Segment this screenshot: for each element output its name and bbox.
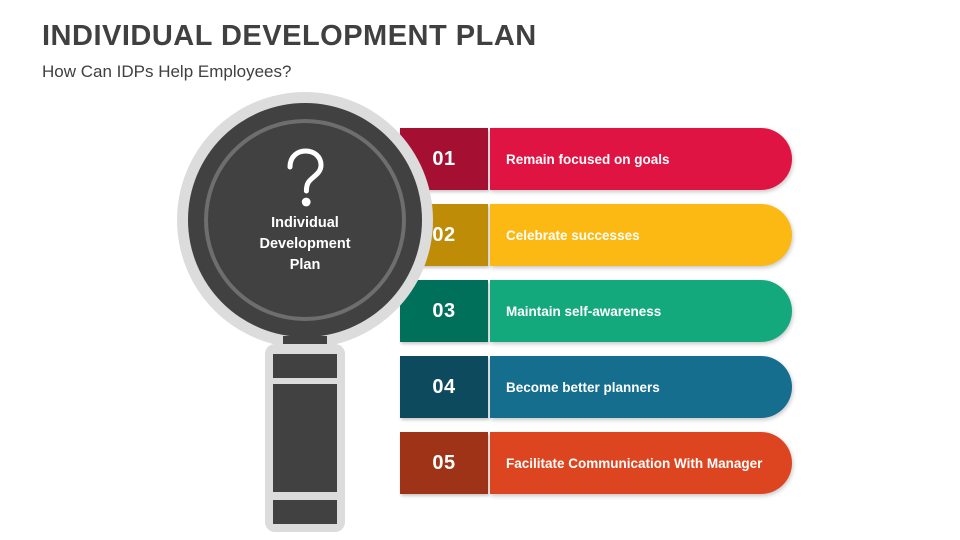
step-number-label: 03 <box>432 300 455 323</box>
step-number-label: 04 <box>432 376 455 399</box>
step-number-label: 02 <box>432 224 455 247</box>
step-row-04[interactable]: 04Become better planners <box>400 356 792 418</box>
step-label-bar-01[interactable]: Remain focused on goals <box>490 128 792 190</box>
slide-canvas: INDIVIDUAL DEVELOPMENT PLAN How Can IDPs… <box>0 0 960 540</box>
magnifier-text-line-3: Plan <box>259 255 350 276</box>
magnifier-text-line-1: Individual <box>259 213 350 234</box>
step-label-bar-04[interactable]: Become better planners <box>490 356 792 418</box>
step-label-bar-03[interactable]: Maintain self-awareness <box>490 280 792 342</box>
step-label-text: Remain focused on goals <box>490 152 670 167</box>
step-label-text: Become better planners <box>490 380 660 395</box>
step-label-bar-02[interactable]: Celebrate successes <box>490 204 792 266</box>
magnifier-handle-segment-bottom <box>273 500 337 524</box>
magnifier-text-line-2: Development <box>259 234 350 255</box>
step-row-01[interactable]: 01Remain focused on goals <box>400 128 792 190</box>
step-label-bar-05[interactable]: Facilitate Communication With Manager <box>490 432 792 494</box>
step-label-text: Maintain self-awareness <box>490 304 661 319</box>
step-row-02[interactable]: 02Celebrate successes <box>400 204 792 266</box>
step-label-text: Celebrate successes <box>490 228 640 243</box>
magnifier-lens-center: Individual Development Plan <box>210 125 400 315</box>
magnifier-graphic: Individual Development Plan <box>177 92 433 532</box>
magnifier-handle-segment-main <box>273 384 337 492</box>
steps-list: 01Remain focused on goals02Celebrate suc… <box>0 0 960 540</box>
step-number-label: 05 <box>432 452 455 475</box>
step-number-label: 01 <box>432 148 455 171</box>
step-label-text: Facilitate Communication With Manager <box>490 456 762 471</box>
step-row-05[interactable]: 05Facilitate Communication With Manager <box>400 432 792 494</box>
step-row-03[interactable]: 03Maintain self-awareness <box>400 280 792 342</box>
magnifier-center-text: Individual Development Plan <box>259 213 350 276</box>
magnifier-handle-segment-top <box>273 354 337 378</box>
question-mark-icon <box>277 147 333 209</box>
